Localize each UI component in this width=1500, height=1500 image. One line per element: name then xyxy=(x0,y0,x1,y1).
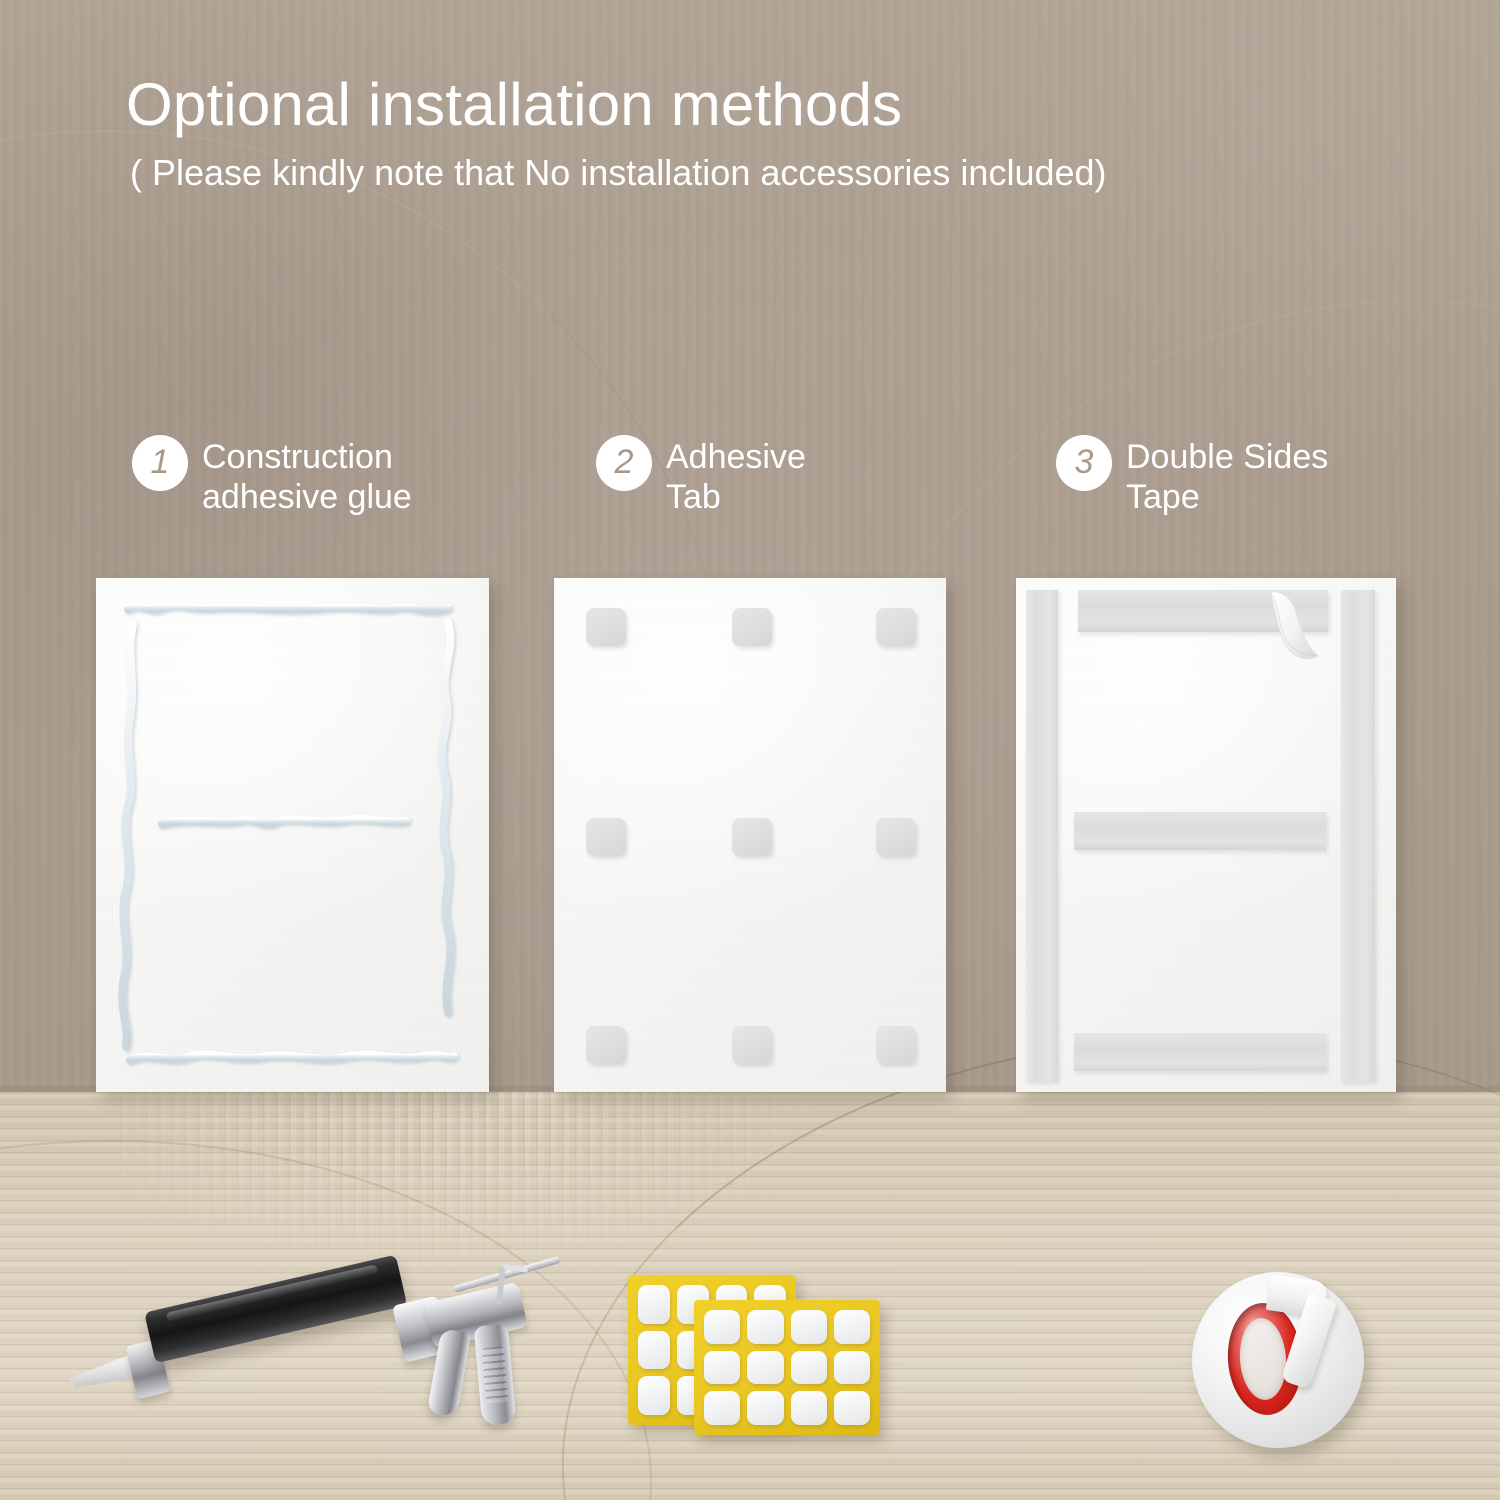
adhesive-tab xyxy=(876,1026,916,1064)
adhesive-tab-dot xyxy=(747,1391,783,1425)
adhesive-tab-dot xyxy=(704,1391,740,1425)
adhesive-tab-dot xyxy=(834,1310,870,1344)
adhesive-tab xyxy=(586,1026,626,1064)
page-subtitle: ( Please kindly note that No installatio… xyxy=(130,152,1107,194)
adhesive-tab xyxy=(732,818,772,856)
method-text-1: Construction adhesive glue xyxy=(202,435,412,517)
adhesive-tab-panel xyxy=(554,578,946,1092)
method-label-3: 3 Double Sides Tape xyxy=(1056,435,1328,517)
adhesive-tab-dot xyxy=(747,1351,783,1385)
adhesive-tab xyxy=(876,608,916,646)
method-badge-1: 1 xyxy=(132,435,188,491)
adhesive-tab-dot xyxy=(834,1391,870,1425)
adhesive-tab-dot xyxy=(791,1310,827,1344)
adhesive-tab-dot xyxy=(791,1351,827,1385)
tape-strip-vertical-right xyxy=(1341,590,1375,1082)
adhesive-tab-dot xyxy=(834,1351,870,1385)
tape-strip-horizontal-top xyxy=(1078,590,1328,632)
panel-sheen xyxy=(96,578,489,1092)
method-text-2: Adhesive Tab xyxy=(666,435,806,517)
adhesive-tab-dot xyxy=(704,1351,740,1385)
adhesive-tab xyxy=(876,818,916,856)
double-sided-tape-panel xyxy=(1016,578,1396,1092)
method-label-1: 1 Construction adhesive glue xyxy=(132,435,412,517)
tape-strip-vertical-left xyxy=(1026,590,1058,1082)
adhesive-tab xyxy=(586,608,626,646)
construction-adhesive-glue-panel xyxy=(96,578,489,1092)
adhesive-tab xyxy=(586,818,626,856)
caulk-gun-hook xyxy=(496,1264,528,1307)
adhesive-tab-dot xyxy=(704,1310,740,1344)
method-badge-3: 3 xyxy=(1056,435,1112,491)
page-title: Optional installation methods xyxy=(126,70,902,139)
adhesive-tab-dot xyxy=(638,1376,670,1415)
adhesive-tab-dot xyxy=(747,1310,783,1344)
tape-strip-horizontal-middle xyxy=(1074,812,1326,850)
adhesive-tab xyxy=(732,1026,772,1064)
adhesive-tab-dot xyxy=(638,1331,670,1370)
method-badge-2: 2 xyxy=(596,435,652,491)
glue-bead-group xyxy=(96,578,489,1092)
tape-strip-horizontal-bottom xyxy=(1074,1033,1326,1071)
installation-methods-infographic: Optional installation methods ( Please k… xyxy=(0,0,1500,1500)
method-label-2: 2 Adhesive Tab xyxy=(596,435,806,517)
adhesive-tab-sheet-front xyxy=(694,1300,880,1435)
adhesive-tab xyxy=(732,608,772,646)
method-text-3: Double Sides Tape xyxy=(1126,435,1328,517)
adhesive-tab-dot xyxy=(791,1391,827,1425)
adhesive-tab-dot xyxy=(638,1285,670,1324)
